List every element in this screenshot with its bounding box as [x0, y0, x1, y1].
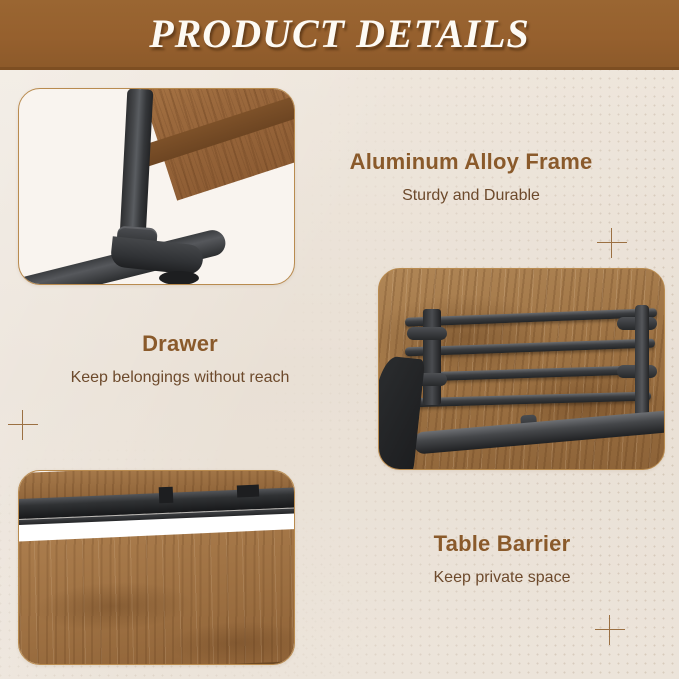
- feature-subtitle-drawer: Keep belongings without reach: [20, 368, 340, 388]
- product-details-infographic: PRODUCT DETAILS Aluminum Alloy Frame Stu…: [0, 0, 679, 679]
- photo-panel-table-barrier: [18, 470, 295, 665]
- plus-mark-icon: [597, 228, 627, 258]
- photo-drawer: [379, 269, 664, 469]
- page-title: PRODUCT DETAILS: [149, 10, 530, 57]
- drawer-bracket: [423, 309, 441, 405]
- photo-aluminum-alloy-frame: [19, 89, 294, 284]
- feature-subtitle-table-barrier: Keep private space: [352, 568, 652, 588]
- plus-mark-icon: [8, 410, 38, 440]
- feature-title-aluminum-alloy-frame: Aluminum Alloy Frame: [316, 148, 626, 176]
- drawer-clip: [407, 327, 447, 340]
- photo-panel-drawer: [378, 268, 665, 470]
- feature-title-drawer: Drawer: [20, 330, 340, 358]
- feature-title-table-barrier: Table Barrier: [352, 530, 652, 558]
- drawer-vertical-post: [635, 305, 649, 417]
- header-banner: PRODUCT DETAILS: [0, 0, 679, 70]
- photo-table-barrier: [19, 471, 294, 664]
- barrier-clip: [237, 485, 259, 498]
- barrier-clip: [159, 487, 174, 504]
- frame-floor-pad: [159, 271, 199, 284]
- caption-drawer: Drawer Keep belongings without reach: [20, 330, 340, 388]
- plus-mark-icon: [595, 615, 625, 645]
- caption-table-barrier: Table Barrier Keep private space: [352, 530, 652, 588]
- feature-subtitle-aluminum-alloy-frame: Sturdy and Durable: [316, 186, 626, 206]
- photo-panel-aluminum-alloy-frame: [18, 88, 295, 285]
- desktop-wood-surface: [19, 528, 294, 664]
- caption-aluminum-alloy-frame: Aluminum Alloy Frame Sturdy and Durable: [316, 148, 626, 206]
